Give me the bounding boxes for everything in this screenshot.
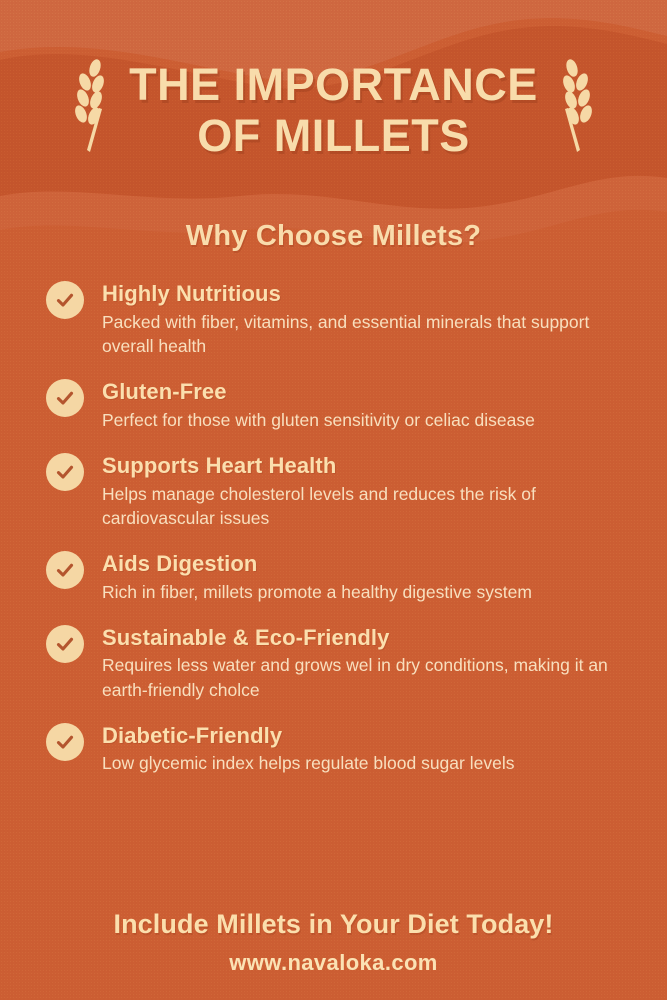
benefit-text: Highly Nutritious Packed with fiber, vit…: [102, 279, 645, 358]
benefit-text: Gluten-Free Perfect for those with glute…: [102, 377, 535, 432]
benefits-list: Highly Nutritious Packed with fiber, vit…: [0, 279, 667, 776]
benefit-title: Aids Digestion: [102, 550, 532, 578]
check-circle-icon: [46, 625, 84, 663]
check-circle-icon: [46, 723, 84, 761]
wheat-stalk-icon: [556, 58, 602, 162]
benefit-title: Gluten-Free: [102, 378, 535, 406]
check-circle-icon: [46, 379, 84, 417]
page-title: THE IMPORTANCE OF MILLETS: [129, 59, 538, 162]
section-subtitle: Why Choose Millets?: [0, 220, 667, 253]
poster-page: THE IMPORTANCE OF MILLETS Why Choose Mil…: [0, 0, 667, 1000]
benefit-description: Helps manage cholesterol levels and redu…: [102, 482, 645, 530]
benefit-text: Sustainable & Eco-Friendly Requires less…: [102, 623, 645, 702]
check-circle-icon: [46, 281, 84, 319]
footer-cta: Include Millets in Your Diet Today!: [0, 909, 667, 940]
list-item: Highly Nutritious Packed with fiber, vit…: [46, 279, 645, 358]
check-circle-icon: [46, 551, 84, 589]
benefit-description: Requires less water and grows wel in dry…: [102, 653, 645, 701]
poster-header: THE IMPORTANCE OF MILLETS: [0, 0, 667, 200]
benefit-title: Supports Heart Health: [102, 452, 645, 480]
benefit-title: Sustainable & Eco-Friendly: [102, 624, 645, 652]
wheat-stalk-icon: [65, 58, 111, 162]
title-line-1: THE IMPORTANCE: [129, 59, 538, 110]
title-line-2: OF MILLETS: [129, 110, 538, 161]
title-block: THE IMPORTANCE OF MILLETS: [0, 58, 667, 162]
list-item: Sustainable & Eco-Friendly Requires less…: [46, 623, 645, 702]
poster-footer: Include Millets in Your Diet Today! www.…: [0, 909, 667, 976]
benefit-description: Low glycemic index helps regulate blood …: [102, 751, 514, 775]
benefit-text: Diabetic-Friendly Low glycemic index hel…: [102, 721, 514, 776]
benefit-title: Highly Nutritious: [102, 280, 645, 308]
benefit-description: Packed with fiber, vitamins, and essenti…: [102, 310, 645, 358]
benefit-description: Rich in fiber, millets promote a healthy…: [102, 580, 532, 604]
list-item: Supports Heart Health Helps manage chole…: [46, 451, 645, 530]
list-item: Gluten-Free Perfect for those with glute…: [46, 377, 645, 432]
benefit-text: Aids Digestion Rich in fiber, millets pr…: [102, 549, 532, 604]
benefit-text: Supports Heart Health Helps manage chole…: [102, 451, 645, 530]
check-circle-icon: [46, 453, 84, 491]
footer-website-url[interactable]: www.navaloka.com: [0, 950, 667, 976]
list-item: Diabetic-Friendly Low glycemic index hel…: [46, 721, 645, 776]
benefit-title: Diabetic-Friendly: [102, 722, 514, 750]
benefit-description: Perfect for those with gluten sensitivit…: [102, 408, 535, 432]
list-item: Aids Digestion Rich in fiber, millets pr…: [46, 549, 645, 604]
